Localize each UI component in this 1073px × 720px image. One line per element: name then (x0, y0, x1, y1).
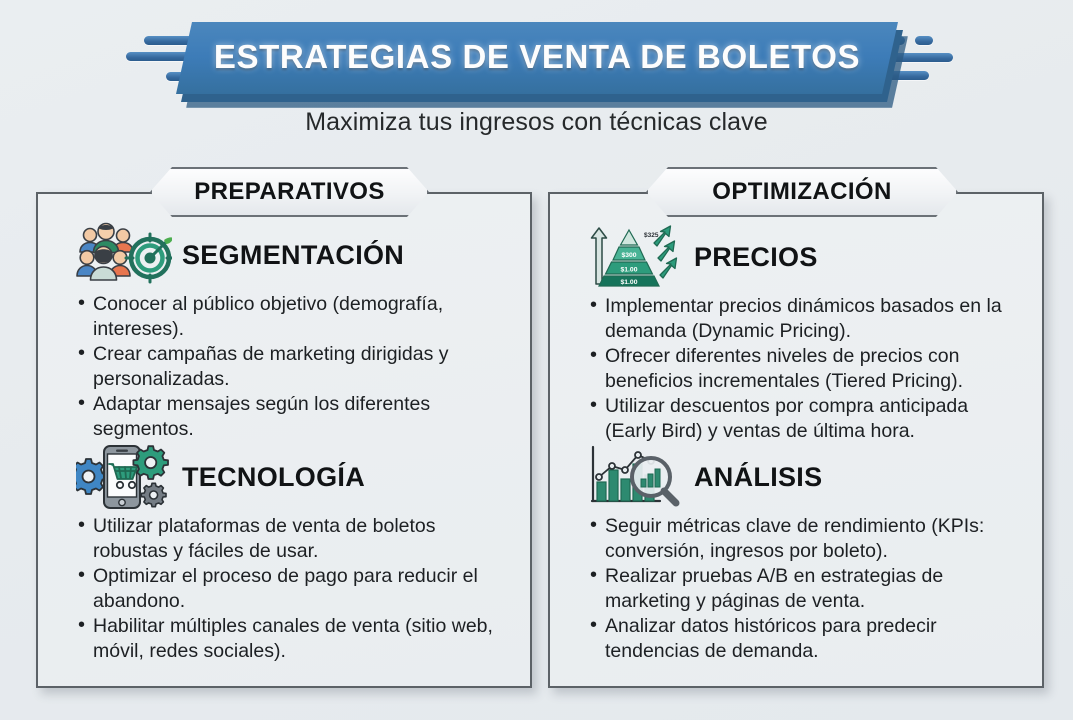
svg-text:$1.00: $1.00 (620, 279, 637, 286)
section-title: TECNOLOGÍA (182, 462, 365, 493)
bullet-item: Conocer al público objetivo (demografía,… (78, 292, 512, 341)
section-header: TECNOLOGÍA (38, 440, 530, 514)
bullet-item: Ofrecer diferentes niveles de precios co… (590, 344, 1024, 393)
section-title: ANÁLISIS (694, 462, 822, 493)
bullet-item: Utilizar plataformas de venta de boletos… (78, 514, 512, 563)
bar-chart-magnifier-icon (588, 444, 684, 510)
bullet-list: Conocer al público objetivo (demografía,… (38, 292, 530, 441)
panel-optimizacion: OPTIMIZACIÓN $325 (548, 192, 1044, 688)
section-analisis: ANÁLISIS Seguir métricas clave de rendim… (550, 440, 1042, 664)
bullet-list: Utilizar plataformas de venta de boletos… (38, 514, 530, 663)
title-banner: ESTRATEGIAS DE VENTA DE BOLETOS (176, 22, 898, 94)
bullet-list: Implementar precios dinámicos basados en… (550, 294, 1042, 443)
smartphone-cart-gears-icon (76, 444, 172, 510)
panel-tag-preparativos: PREPARATIVOS (150, 167, 429, 217)
page-subtitle: Maximiza tus ingresos con técnicas clave (0, 108, 1073, 137)
bullet-item: Realizar pruebas A/B en estrategias de m… (590, 564, 1024, 613)
bullet-item: Optimizar el proceso de pago para reduci… (78, 564, 512, 613)
svg-text:$1.00: $1.00 (620, 267, 637, 274)
bullet-item: Seguir métricas clave de rendimiento (KP… (590, 514, 1024, 563)
svg-text:$325: $325 (644, 232, 659, 239)
bullet-item: Crear campañas de marketing dirigidas y … (78, 342, 512, 391)
speed-line (915, 36, 933, 45)
bullet-item: Adaptar mensajes según los diferentes se… (78, 392, 512, 441)
section-tecnologia: TECNOLOGÍA Utilizar plataformas de venta… (38, 440, 530, 664)
bullet-item: Implementar precios dinámicos basados en… (590, 294, 1024, 343)
header: ESTRATEGIAS DE VENTA DE BOLETOS Maximiza… (0, 0, 1073, 150)
panel-tag-label: OPTIMIZACIÓN (712, 178, 891, 206)
people-target-icon (76, 222, 172, 288)
svg-text:$300: $300 (621, 252, 636, 259)
banner-zone: ESTRATEGIAS DE VENTA DE BOLETOS (0, 22, 1073, 100)
section-header: $325 $300 $1.00 $1.00 PRECIOS (550, 220, 1042, 294)
section-title: PRECIOS (694, 242, 818, 273)
panel-tag-label: PREPARATIVOS (194, 178, 385, 206)
page-title: ESTRATEGIAS DE VENTA DE BOLETOS (176, 22, 898, 94)
bullet-item: Analizar datos históricos para predecir … (590, 614, 1024, 663)
price-pyramid-arrows-icon: $325 $300 $1.00 $1.00 (588, 224, 684, 290)
section-header: ANÁLISIS (550, 440, 1042, 514)
bullet-item: Habilitar múltiples canales de venta (si… (78, 614, 512, 663)
section-header: SEGMENTACIÓN (38, 218, 530, 292)
section-precios: $325 $300 $1.00 $1.00 PRECIOS Implementa… (550, 220, 1042, 444)
section-segmentacion: SEGMENTACIÓN Conocer al público objetivo… (38, 218, 530, 442)
bullet-list: Seguir métricas clave de rendimiento (KP… (550, 514, 1042, 663)
bullet-item: Utilizar descuentos por compra anticipad… (590, 394, 1024, 443)
panel-preparativos: PREPARATIVOS (36, 192, 532, 688)
section-title: SEGMENTACIÓN (182, 240, 404, 271)
panel-tag-optimizacion: OPTIMIZACIÓN (646, 167, 958, 217)
